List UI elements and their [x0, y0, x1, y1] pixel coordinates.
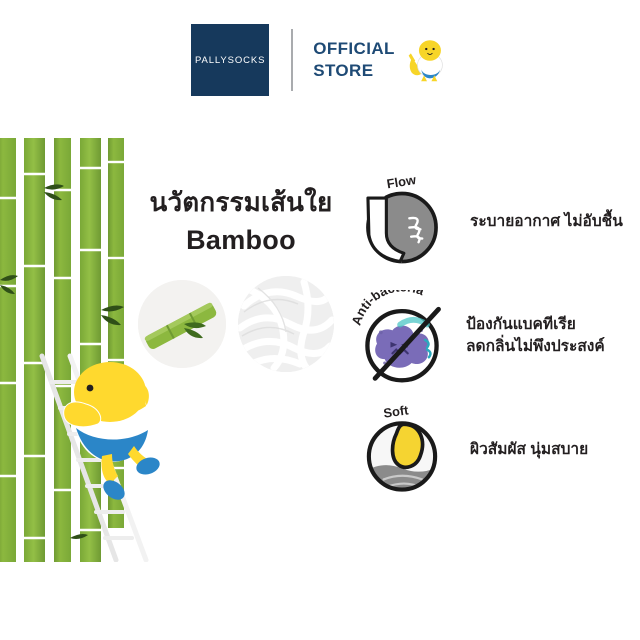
feature-row-flow: Flow ระบายอากาศ ไม่อับชื้น	[356, 176, 623, 268]
headline-block: นวัตกรรมเส้นใย Bamboo	[132, 186, 350, 256]
headline-thai: นวัตกรรมเส้นใย	[132, 186, 350, 219]
feature-text-soft: ผิวสัมผัส นุ่มสบาย	[470, 439, 588, 461]
soft-foot-shape	[393, 424, 423, 467]
flow-icon: Flow	[356, 176, 448, 268]
chick-mascot-illustration	[64, 362, 162, 504]
header-divider	[291, 29, 293, 91]
feature-row-soft: Soft ผิวสัมผัส นุ่มสบาย	[356, 404, 588, 496]
headline-english: Bamboo	[132, 225, 350, 256]
soft-icon: Soft	[356, 404, 448, 496]
feature-text-flow: ระบายอากาศ ไม่อับชื้น	[470, 211, 623, 233]
soft-icon-label: Soft	[382, 404, 410, 421]
feature-row-anti-bacteria: Anti-bacteria	[352, 290, 605, 382]
bamboo-fiber-photo	[238, 276, 334, 372]
material-photos	[134, 276, 346, 372]
feature-anti-line-2: ลดกลิ่นไม่พึงประสงค์	[466, 336, 605, 358]
official-line-2: STORE	[313, 60, 395, 82]
flow-icon-label: Flow	[386, 176, 418, 191]
chick-climbing-ladder-illustration	[38, 352, 193, 562]
bamboo-stalk-photo	[138, 280, 226, 368]
official-line-1: OFFICIAL	[313, 38, 395, 60]
promo-banner: PALLYSOCKS OFFICIAL STORE	[0, 0, 640, 640]
chick-mascot-icon	[405, 37, 449, 83]
brand-name-label: PALLYSOCKS	[195, 55, 265, 66]
feature-soft-line-1: ผิวสัมผัส นุ่มสบาย	[470, 439, 588, 461]
feature-anti-line-1: ป้องกันแบคทีเรีย	[466, 314, 605, 336]
feature-text-anti-bacteria: ป้องกันแบคทีเรีย ลดกลิ่นไม่พึงประสงค์	[466, 314, 605, 359]
official-store-label: OFFICIAL STORE	[313, 38, 395, 82]
anti-bacteria-icon: Anti-bacteria	[352, 290, 444, 382]
brand-logo-box: PALLYSOCKS	[191, 24, 269, 96]
feature-flow-line-1: ระบายอากาศ ไม่อับชื้น	[470, 211, 623, 233]
store-header: PALLYSOCKS OFFICIAL STORE	[0, 0, 640, 120]
